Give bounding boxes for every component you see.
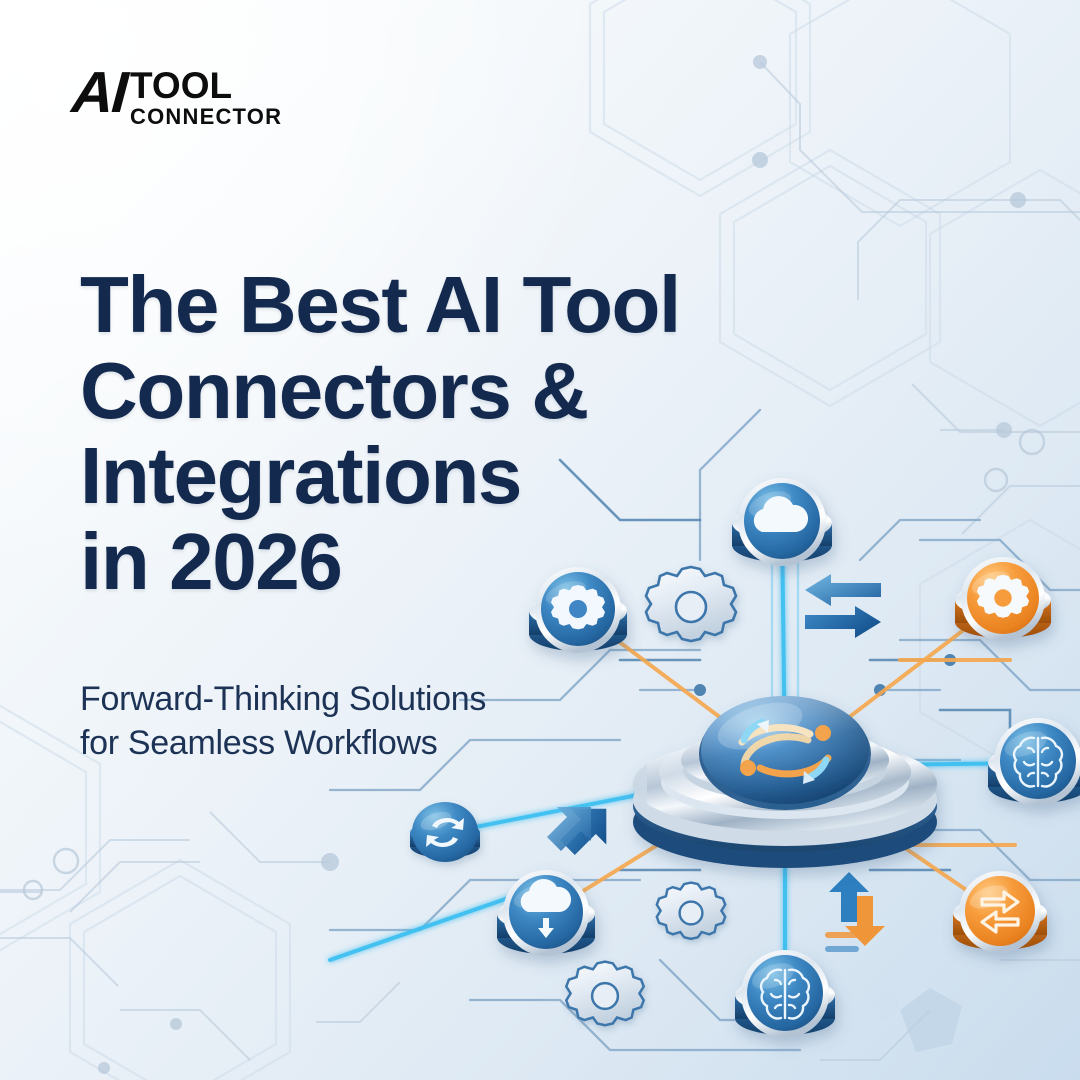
logo-tool-text: TOOL xyxy=(130,68,282,103)
page-subtitle: Forward-Thinking Solutions for Seamless … xyxy=(80,678,640,765)
page-title: The Best AI Tool Connectors & Integratio… xyxy=(80,262,860,604)
chevron-arrow-icon xyxy=(547,807,606,855)
headline-line-3: Integrations xyxy=(80,433,860,519)
logo-connector-text: CONNECTOR xyxy=(130,105,282,129)
logo-ai-text: AI xyxy=(70,66,128,119)
gear-outline-icon-mid xyxy=(657,883,725,939)
headline-line-4: in 2026 xyxy=(80,519,860,605)
logo-text-stack: TOOL CONNECTOR xyxy=(130,66,282,129)
transfer-arrows-icon xyxy=(825,872,885,952)
config-gear-node[interactable] xyxy=(955,557,1051,641)
ai-brain-node-bottom[interactable] xyxy=(735,950,835,1038)
central-integration-hub[interactable] xyxy=(633,693,937,868)
faint-decor-shapes xyxy=(872,986,962,1052)
gear-outline-icon-bottom xyxy=(566,962,643,1026)
brand-logo[interactable]: AI TOOL CONNECTOR xyxy=(72,66,282,129)
headline-line-2: Connectors & xyxy=(80,348,860,434)
subtitle-line-1: Forward-Thinking Solutions xyxy=(80,678,640,722)
subtitle-line-2: for Seamless Workflows xyxy=(80,722,640,766)
cloud-sync-node[interactable] xyxy=(497,870,595,956)
headline-line-1: The Best AI Tool xyxy=(80,262,860,348)
data-exchange-node[interactable] xyxy=(953,871,1047,953)
ai-brain-node[interactable] xyxy=(988,718,1080,806)
refresh-sync-node[interactable] xyxy=(410,802,480,862)
poster-canvas: AI TOOL CONNECTOR The Best AI Tool Conne… xyxy=(0,0,1080,1080)
